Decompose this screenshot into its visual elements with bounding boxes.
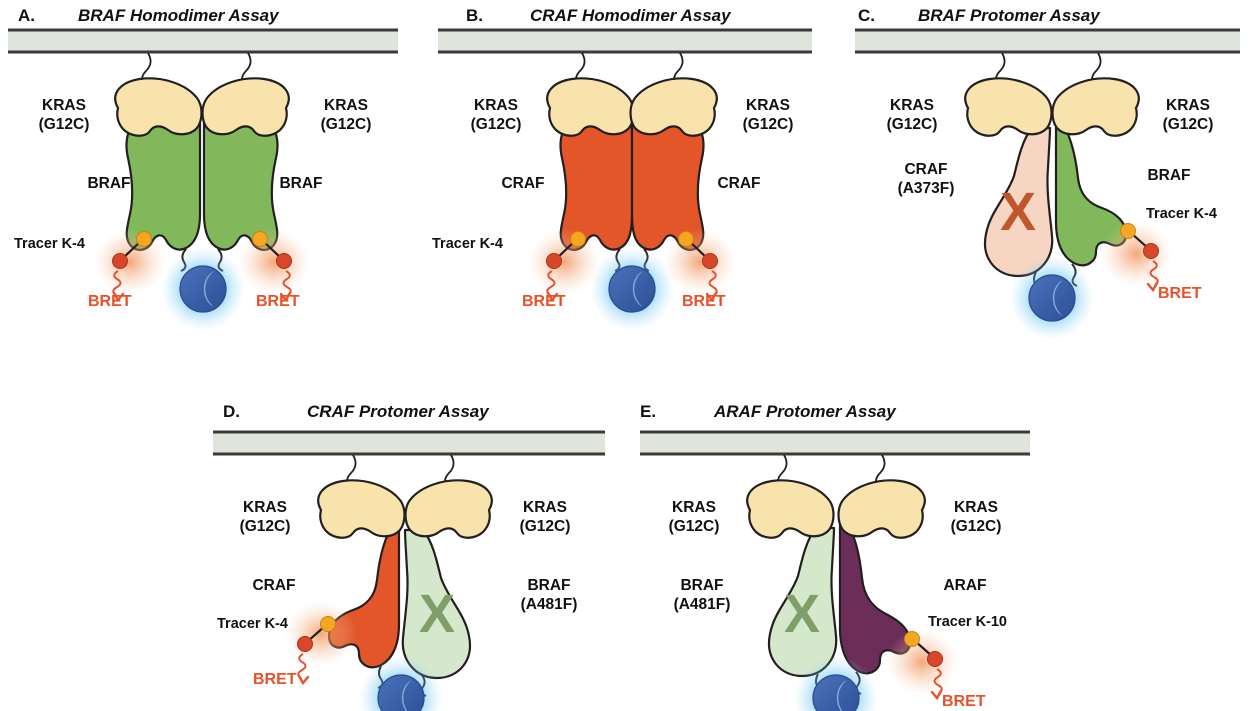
protein-kras-right bbox=[839, 480, 925, 537]
kras-left-mutation: (G12C) bbox=[471, 116, 522, 133]
bret-glow-right bbox=[886, 629, 958, 695]
membrane-bar bbox=[213, 432, 605, 454]
bret-glow-left bbox=[528, 229, 600, 295]
panel-b-kras-right-label: KRAS (G12C) bbox=[720, 96, 816, 134]
panel-e-bret-right: BRET bbox=[942, 693, 986, 711]
panel-b-kras-left-label: KRAS (G12C) bbox=[448, 96, 544, 134]
panel-e: E. ARAF Protomer Assay bbox=[632, 390, 1042, 707]
protein-kras-left bbox=[115, 78, 201, 135]
panel-e-protein-left-label: BRAF (A481F) bbox=[654, 576, 750, 614]
protein-kras-right bbox=[406, 480, 492, 537]
protein-kras-right bbox=[631, 78, 717, 135]
protein-left-name: CRAF bbox=[904, 161, 947, 178]
panel-a-bret-left: BRET bbox=[88, 293, 132, 311]
panel-c-bret-right: BRET bbox=[1158, 285, 1202, 303]
membrane-bar bbox=[8, 30, 398, 52]
panel-b: B. CRAF Homodimer Assay bbox=[432, 0, 832, 350]
bret-glow-left bbox=[94, 229, 166, 295]
panel-b-tracer-label: Tracer K-4 bbox=[432, 236, 503, 252]
panel-d: D. CRAF Protomer Assay bbox=[205, 390, 615, 707]
bret-glow-right bbox=[1100, 221, 1172, 287]
inactive-x-mark: X bbox=[784, 584, 820, 644]
protein-left-mutation: (A373F) bbox=[898, 180, 955, 197]
protein-left-name: BRAF bbox=[680, 577, 723, 594]
protein-kras-left bbox=[547, 78, 633, 135]
panel-d-kras-right-label: KRAS (G12C) bbox=[497, 498, 593, 536]
kras-right-name: KRAS bbox=[523, 499, 567, 516]
kras-right-name: KRAS bbox=[324, 97, 368, 114]
panel-c-kras-left-label: KRAS (G12C) bbox=[864, 96, 960, 134]
kras-right-name: KRAS bbox=[1166, 97, 1210, 114]
kras-left-mutation: (G12C) bbox=[240, 518, 291, 535]
kras-left-name: KRAS bbox=[243, 499, 287, 516]
kras-right-mutation: (G12C) bbox=[951, 518, 1002, 535]
panel-a: A. BRAF Homodimer Assay bbox=[0, 0, 418, 350]
panel-d-diagram: X bbox=[205, 390, 615, 707]
kras-right-mutation: (G12C) bbox=[743, 116, 794, 133]
kras-right-mutation: (G12C) bbox=[1163, 116, 1214, 133]
panel-a-protein-left-label: BRAF bbox=[76, 174, 142, 193]
nanoluc-sphere bbox=[609, 266, 655, 312]
panel-e-protein-right-label: ARAF bbox=[932, 576, 998, 595]
protein-right-name: BRAF bbox=[527, 577, 570, 594]
panel-b-bret-left: BRET bbox=[522, 293, 566, 311]
panel-c-protein-left-label: CRAF (A373F) bbox=[878, 160, 974, 198]
panel-a-bret-right: BRET bbox=[256, 293, 300, 311]
kras-right-mutation: (G12C) bbox=[321, 116, 372, 133]
kras-left-name: KRAS bbox=[890, 97, 934, 114]
kras-right-mutation: (G12C) bbox=[520, 518, 571, 535]
bret-glow-right bbox=[238, 229, 310, 295]
panel-b-bret-right: BRET bbox=[682, 293, 726, 311]
panel-d-tracer-label: Tracer K-4 bbox=[217, 616, 288, 632]
panel-e-diagram: X bbox=[632, 390, 1042, 707]
protein-kras-right bbox=[1053, 78, 1139, 135]
panel-a-kras-right-label: KRAS (G12C) bbox=[298, 96, 394, 134]
bret-glow-left bbox=[285, 601, 357, 667]
kras-left-name: KRAS bbox=[672, 499, 716, 516]
panel-e-kras-left-label: KRAS (G12C) bbox=[646, 498, 742, 536]
panel-c: C. BRAF Protomer Assay bbox=[850, 0, 1250, 350]
panel-e-kras-right-label: KRAS (G12C) bbox=[928, 498, 1024, 536]
nanoluc-sphere bbox=[1029, 275, 1075, 321]
kras-left-name: KRAS bbox=[474, 97, 518, 114]
nanoluc-sphere bbox=[180, 266, 226, 312]
bret-glow-right bbox=[664, 229, 736, 295]
panel-c-kras-right-label: KRAS (G12C) bbox=[1140, 96, 1236, 134]
panel-d-protein-right-label: BRAF (A481F) bbox=[501, 576, 597, 614]
protein-right-mutation: (A481F) bbox=[521, 596, 578, 613]
panel-e-tracer-label: Tracer K-10 bbox=[928, 614, 1007, 630]
membrane-bar bbox=[438, 30, 812, 52]
inactive-x-mark: X bbox=[419, 584, 455, 644]
panel-a-tracer-label: Tracer K-4 bbox=[14, 236, 85, 252]
kras-left-mutation: (G12C) bbox=[669, 518, 720, 535]
protein-kras-left bbox=[318, 480, 404, 537]
kras-left-mutation: (G12C) bbox=[887, 116, 938, 133]
membrane-bar bbox=[640, 432, 1030, 454]
figure-canvas: A. BRAF Homodimer Assay bbox=[0, 0, 1250, 707]
protein-kras-left bbox=[965, 78, 1051, 135]
inactive-x-mark: X bbox=[1000, 182, 1036, 242]
protein-kras-right bbox=[203, 78, 289, 135]
panel-a-protein-right-label: BRAF bbox=[268, 174, 334, 193]
panel-d-bret-left: BRET bbox=[253, 671, 297, 689]
panel-b-protein-right-label: CRAF bbox=[706, 174, 772, 193]
kras-left-mutation: (G12C) bbox=[39, 116, 90, 133]
membrane-bar bbox=[855, 30, 1240, 52]
panel-a-diagram bbox=[0, 0, 418, 350]
panel-d-protein-left-label: CRAF bbox=[241, 576, 307, 595]
panel-b-protein-left-label: CRAF bbox=[490, 174, 556, 193]
kras-left-name: KRAS bbox=[42, 97, 86, 114]
protein-left-mutation: (A481F) bbox=[674, 596, 731, 613]
kras-right-name: KRAS bbox=[746, 97, 790, 114]
panel-d-kras-left-label: KRAS (G12C) bbox=[217, 498, 313, 536]
kras-right-name: KRAS bbox=[954, 499, 998, 516]
panel-c-protein-right-label: BRAF bbox=[1136, 166, 1202, 185]
panel-a-kras-left-label: KRAS (G12C) bbox=[16, 96, 112, 134]
panel-c-tracer-label: Tracer K-4 bbox=[1146, 206, 1217, 222]
protein-kras-left bbox=[747, 480, 833, 537]
